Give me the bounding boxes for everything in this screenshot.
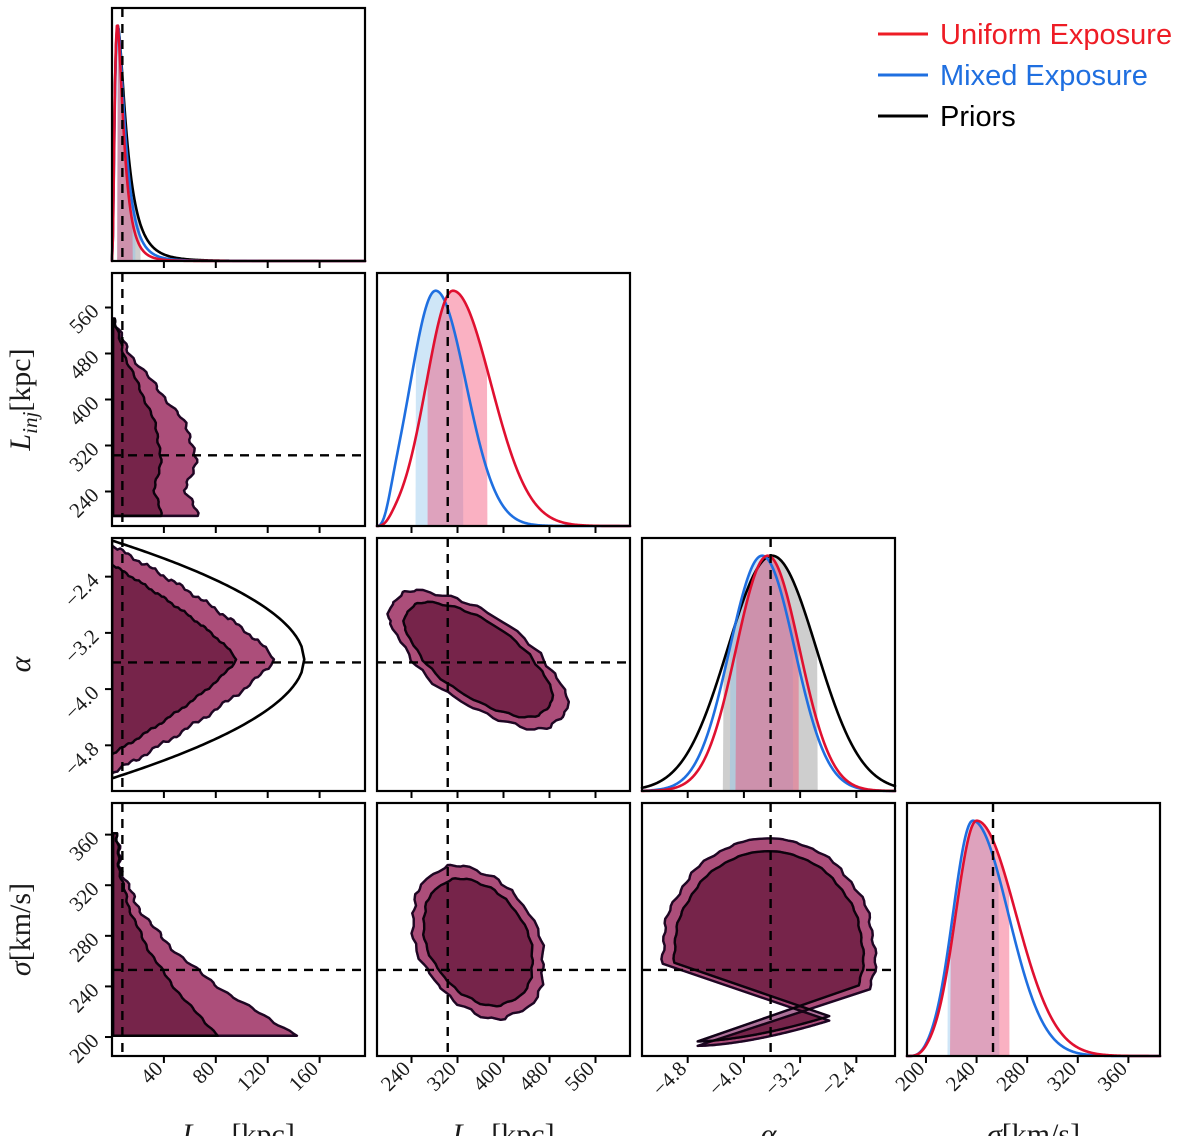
panel-2d-Ldiss-alpha: −4.8−4.0−3.2−2.4 bbox=[60, 538, 365, 798]
legend-label-0: Uniform Exposure bbox=[940, 19, 1172, 51]
y-tick-label: 480 bbox=[64, 345, 103, 384]
x-tick-label: −3.2 bbox=[760, 1057, 804, 1101]
contour-mixed-1sigma bbox=[403, 602, 553, 718]
y-tick-label: 400 bbox=[64, 391, 103, 430]
y-tick-label: 320 bbox=[64, 877, 103, 916]
density-curve-prior bbox=[112, 26, 365, 261]
axis-label-Linj: Linj[kpc] bbox=[451, 1118, 554, 1136]
x-tick-label: 400 bbox=[468, 1057, 507, 1096]
panel-frame bbox=[907, 803, 1160, 1056]
legend: Uniform ExposureMixed ExposurePriors bbox=[878, 19, 1172, 133]
y-tick-label: −4.8 bbox=[60, 737, 104, 781]
axis-label-sigma: σ[km/s] bbox=[987, 1118, 1080, 1136]
x-tick-label: −4.8 bbox=[647, 1057, 691, 1101]
legend-label-1: Mixed Exposure bbox=[940, 60, 1148, 92]
panel-content bbox=[412, 865, 544, 1020]
panel-content bbox=[661, 838, 876, 1045]
panel-2d-alpha-sigma: −4.8−4.0−3.2−2.4 bbox=[642, 803, 895, 1100]
density-curve-mixed bbox=[112, 26, 365, 261]
axis-label-sigma: σ[km/s] bbox=[4, 883, 37, 976]
x-tick-label: 40 bbox=[136, 1057, 168, 1089]
panel-content bbox=[113, 319, 199, 516]
y-tick-label: 320 bbox=[64, 437, 103, 476]
y-tick-label: 560 bbox=[64, 299, 103, 338]
density-curve-uniform bbox=[907, 821, 1160, 1056]
y-tick-label: −4.0 bbox=[60, 681, 104, 725]
panel-2d-Linj-alpha bbox=[377, 538, 630, 798]
axis-label-alpha: α bbox=[761, 1118, 778, 1136]
y-tick-label: 240 bbox=[64, 978, 103, 1017]
panel-1d-Ldiss bbox=[112, 8, 365, 268]
panel-2d-Ldiss-sigma: 4080120160200240280320360 bbox=[64, 803, 365, 1096]
y-tick-label: −3.2 bbox=[60, 624, 104, 668]
x-tick-label: 560 bbox=[560, 1057, 599, 1096]
x-tick-label: 120 bbox=[232, 1057, 271, 1096]
y-tick-label: 200 bbox=[64, 1029, 103, 1068]
legend-label-2: Priors bbox=[940, 101, 1016, 133]
panel-1d-sigma: 200240280320360 bbox=[890, 803, 1160, 1096]
panel-1d-alpha bbox=[642, 538, 895, 798]
density-curve-uniform bbox=[377, 291, 630, 526]
x-tick-label: 200 bbox=[890, 1057, 929, 1096]
axis-label-Ldiss: Ldiss[kpc] bbox=[181, 1118, 295, 1136]
y-tick-label: 360 bbox=[64, 826, 103, 865]
axis-label-alpha: α bbox=[4, 655, 37, 672]
x-tick-label: 80 bbox=[188, 1057, 220, 1089]
panel-1d-Linj bbox=[377, 273, 630, 533]
panel-content bbox=[387, 590, 568, 730]
x-tick-label: 240 bbox=[376, 1057, 415, 1096]
x-tick-label: −4.0 bbox=[704, 1057, 748, 1101]
x-tick-label: 160 bbox=[284, 1057, 323, 1096]
x-tick-label: 280 bbox=[991, 1057, 1030, 1096]
x-tick-label: 320 bbox=[422, 1057, 461, 1096]
density-curve-mixed bbox=[377, 291, 630, 526]
y-tick-label: −2.4 bbox=[60, 568, 104, 612]
x-tick-label: 480 bbox=[514, 1057, 553, 1096]
density-curve-mixed bbox=[907, 821, 1160, 1056]
panel-2d-Linj-sigma: 240320400480560 bbox=[376, 803, 630, 1096]
panel-frame bbox=[377, 273, 630, 526]
panel-2d-Ldiss-Linj: 240320400480560 bbox=[64, 273, 365, 533]
panel-content bbox=[112, 541, 304, 779]
y-tick-label: 240 bbox=[64, 483, 103, 522]
corner-plot-figure: 240320400480560−4.8−4.0−3.2−2.4408012016… bbox=[0, 0, 1200, 1136]
axis-label-Linj: Linj[kpc] bbox=[4, 348, 42, 451]
x-tick-label: 320 bbox=[1042, 1057, 1081, 1096]
panel-content bbox=[113, 833, 297, 1035]
panel-frame bbox=[112, 8, 365, 261]
y-tick-label: 280 bbox=[64, 927, 103, 966]
x-tick-label: 360 bbox=[1093, 1057, 1132, 1096]
x-tick-label: −2.4 bbox=[816, 1056, 860, 1100]
density-curve-uniform bbox=[112, 26, 365, 261]
corner-plot-svg: 240320400480560−4.8−4.0−3.2−2.4408012016… bbox=[0, 0, 1200, 1136]
x-tick-label: 240 bbox=[941, 1057, 980, 1096]
credible-band-uniform bbox=[950, 821, 1009, 1056]
